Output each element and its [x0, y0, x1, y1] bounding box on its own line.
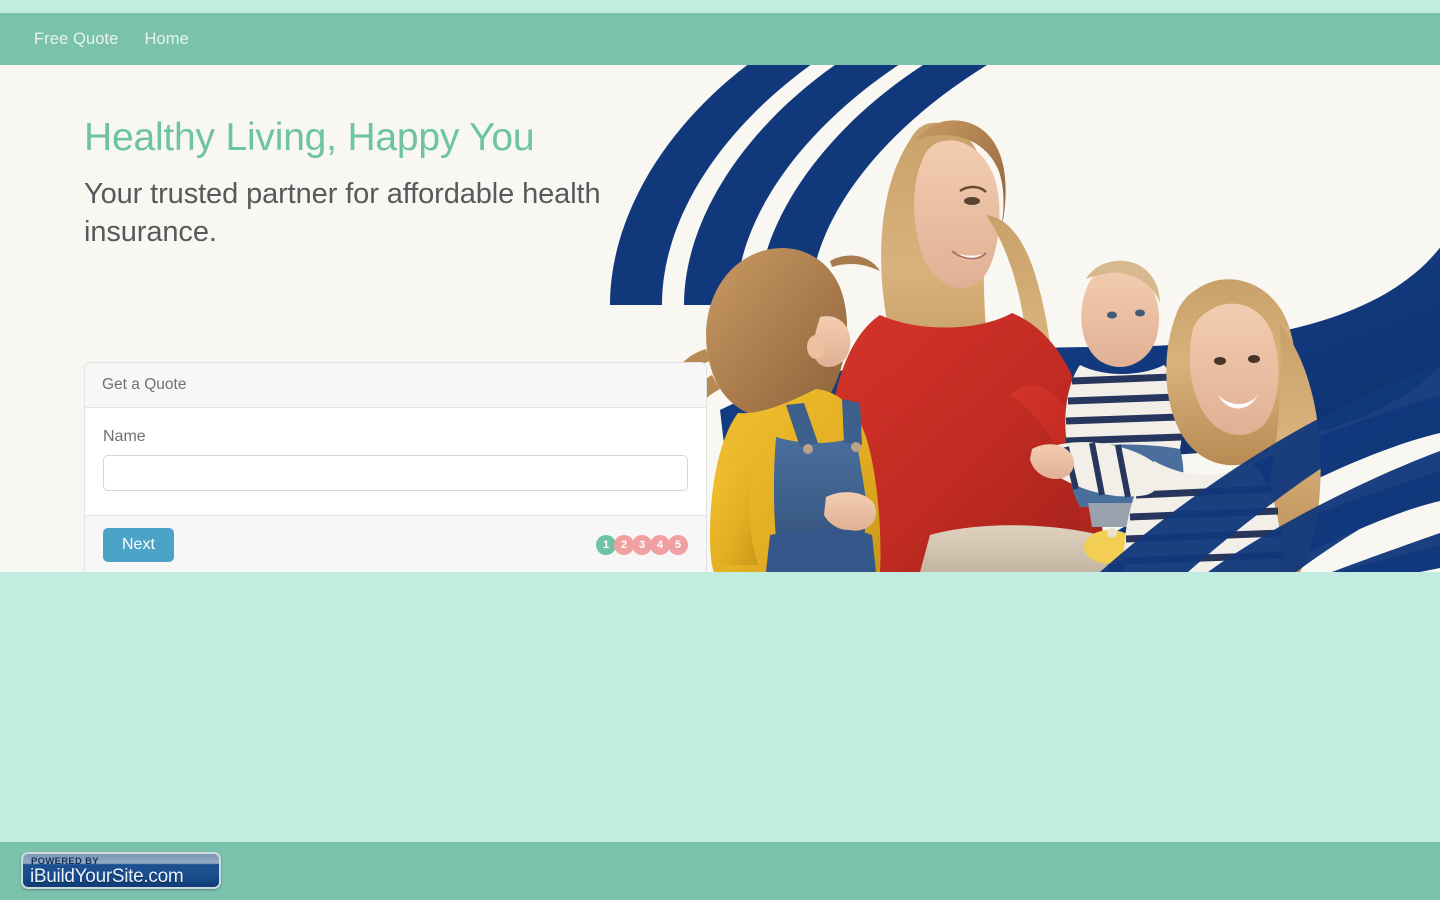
page-footer: POWERED BY iBuildYourSite.com — [0, 842, 1440, 900]
top-accent-strip — [0, 0, 1440, 13]
quote-form-card: Get a Quote Name Next 1 2 3 4 5 — [84, 362, 707, 572]
quote-form-header: Get a Quote — [85, 363, 706, 408]
step-1[interactable]: 1 — [596, 535, 616, 555]
step-2[interactable]: 2 — [614, 535, 634, 555]
nav-link-free-quote[interactable]: Free Quote — [34, 30, 118, 49]
main-navbar: Free Quote Home — [0, 13, 1440, 65]
step-3[interactable]: 3 — [632, 535, 652, 555]
step-5[interactable]: 5 — [668, 535, 688, 555]
hero-banner-image — [580, 65, 1440, 572]
hero-section: Healthy Living, Happy You Your trusted p… — [0, 65, 1440, 572]
page-root: Free Quote Home — [0, 0, 1440, 900]
powered-by-badge[interactable]: POWERED BY iBuildYourSite.com — [21, 852, 221, 889]
name-field-label: Name — [103, 428, 688, 446]
quote-form-body: Name — [85, 408, 706, 515]
name-input[interactable] — [103, 455, 688, 491]
powered-by-brand: iBuildYourSite.com — [30, 866, 183, 888]
next-button[interactable]: Next — [103, 528, 174, 562]
nav-link-home[interactable]: Home — [144, 30, 188, 49]
step-4[interactable]: 4 — [650, 535, 670, 555]
quote-form-footer: Next 1 2 3 4 5 — [85, 515, 706, 572]
content-band — [0, 572, 1440, 842]
step-indicator: 1 2 3 4 5 — [598, 535, 688, 555]
